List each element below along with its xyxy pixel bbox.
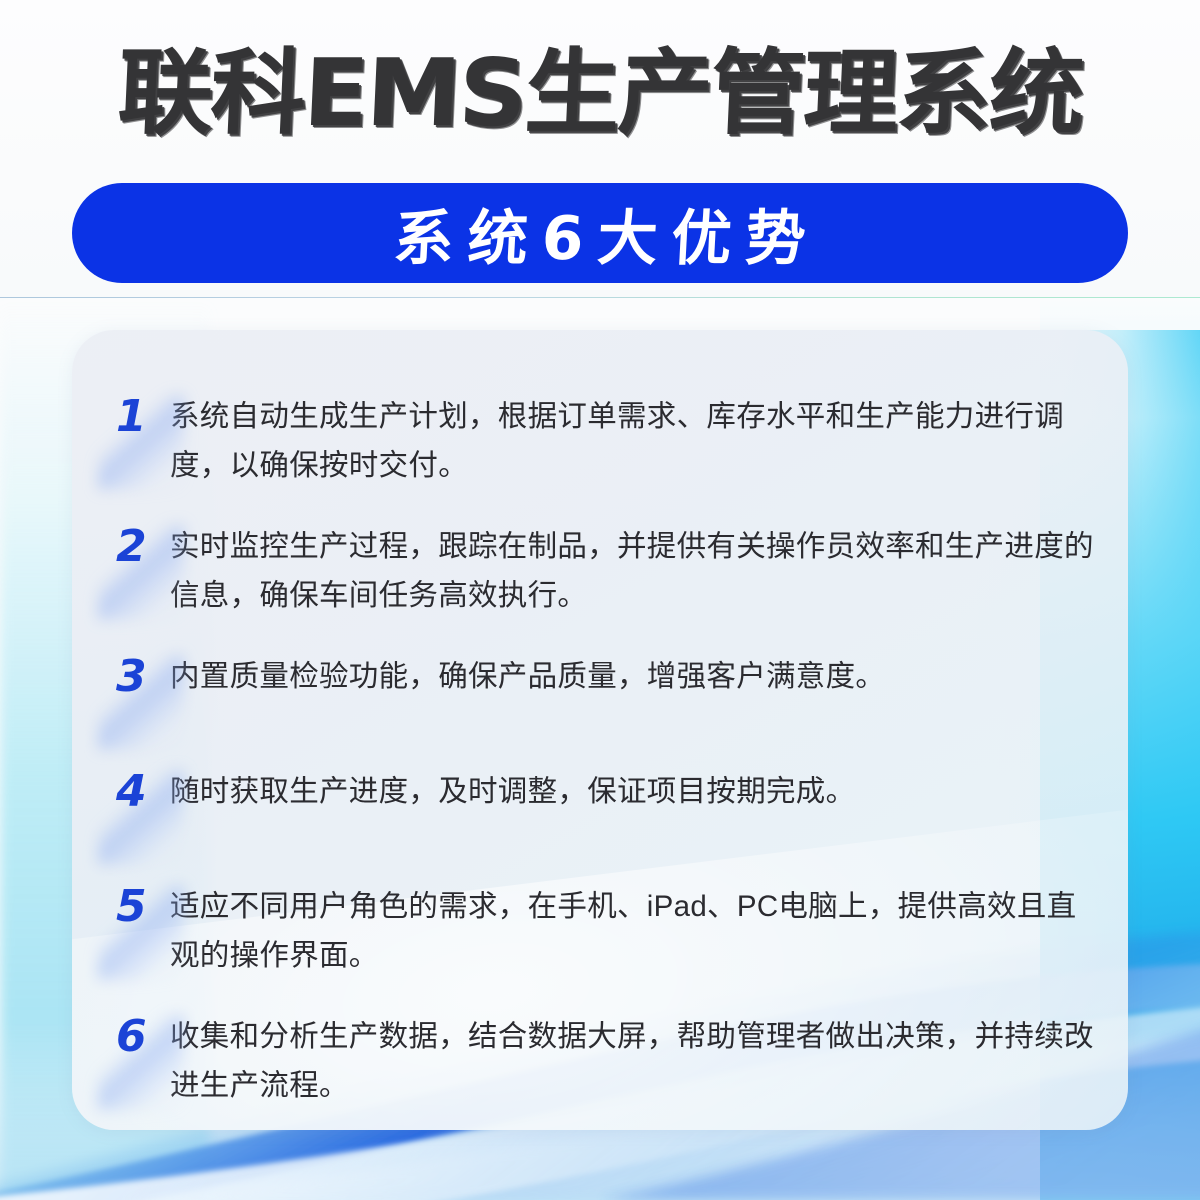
item-number-wrap: 2	[114, 522, 170, 576]
item-number-wrap: 5	[114, 882, 170, 936]
item-text: 系统自动生成生产计划，根据订单需求、库存水平和生产能力进行调度，以确保按时交付。	[170, 392, 1099, 490]
list-item: 2 实时监控生产过程，跟踪在制品，并提供有关操作员效率和生产进度的信息，确保车间…	[114, 522, 1099, 620]
advantages-card: 1 系统自动生成生产计划，根据订单需求、库存水平和生产能力进行调度，以确保按时交…	[72, 330, 1128, 1130]
list-item: 1 系统自动生成生产计划，根据订单需求、库存水平和生产能力进行调度，以确保按时交…	[114, 392, 1099, 490]
header: 联科EMS生产管理系统 系统6大优势	[0, 0, 1200, 297]
subtitle-banner: 系统6大优势	[72, 183, 1128, 283]
list-item: 6 收集和分析生产数据，结合数据大屏，帮助管理者做出决策，并持续改进生产流程。	[114, 1012, 1099, 1110]
item-number: 6	[114, 1012, 170, 1062]
advantages-list: 1 系统自动生成生产计划，根据订单需求、库存水平和生产能力进行调度，以确保按时交…	[72, 330, 1128, 1130]
item-number: 5	[114, 882, 170, 932]
header-divider-line	[0, 297, 1200, 298]
item-text: 实时监控生产过程，跟踪在制品，并提供有关操作员效率和生产进度的信息，确保车间任务…	[170, 522, 1099, 620]
page-title: 联科EMS生产管理系统	[0, 43, 1200, 143]
subtitle-banner-label: 系统6大优势	[69, 183, 1130, 283]
poster-root: 联科EMS生产管理系统 系统6大优势 1 系统自动生成生产计划，根据订单需求、库…	[0, 0, 1200, 1200]
item-text: 随时获取生产进度，及时调整，保证项目按期完成。	[170, 767, 1099, 816]
item-text: 收集和分析生产数据，结合数据大屏，帮助管理者做出决策，并持续改进生产流程。	[170, 1012, 1099, 1110]
item-number-wrap: 3	[114, 652, 170, 706]
item-number: 3	[114, 652, 170, 702]
item-number-wrap: 4	[114, 767, 170, 821]
list-item: 3 内置质量检验功能，确保产品质量，增强客户满意度。	[114, 652, 1099, 706]
item-number-wrap: 6	[114, 1012, 170, 1066]
list-item: 5 适应不同用户角色的需求，在手机、iPad、PC电脑上，提供高效且直观的操作界…	[114, 882, 1099, 980]
list-item: 4 随时获取生产进度，及时调整，保证项目按期完成。	[114, 767, 1099, 821]
item-number: 4	[114, 767, 170, 817]
item-text: 适应不同用户角色的需求，在手机、iPad、PC电脑上，提供高效且直观的操作界面。	[170, 882, 1099, 980]
item-number-wrap: 1	[114, 392, 170, 446]
item-text: 内置质量检验功能，确保产品质量，增强客户满意度。	[170, 652, 1099, 701]
item-number: 1	[114, 392, 170, 442]
item-number: 2	[114, 522, 170, 572]
